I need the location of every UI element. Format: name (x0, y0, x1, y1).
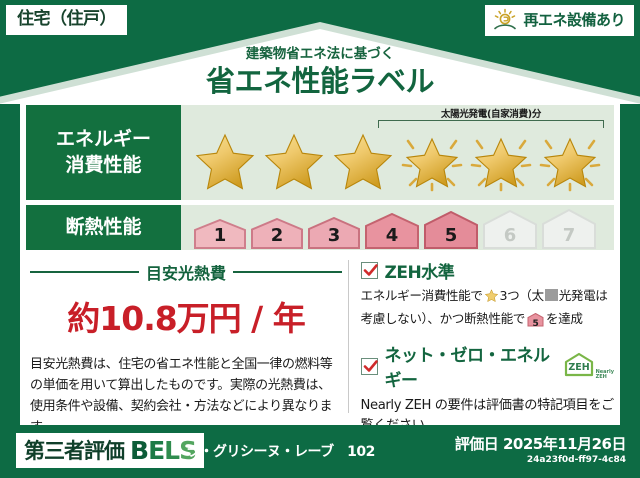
star-5-solar (467, 127, 535, 195)
checkbox-checked-icon (361, 262, 378, 279)
insulation-performance-row: 断熱性能 1 2 3 4 (26, 205, 614, 250)
solar-bracket-label: 太陽光発電(自家消費)分 (376, 106, 606, 120)
insulation-level-4-number: 4 (364, 225, 420, 246)
redacted-text-block (545, 289, 558, 301)
svg-text:ZEH: ZEH (568, 362, 589, 373)
insulation-level-5-number: 5 (423, 225, 479, 246)
energy-cost-amount: 約10.8万円 / 年 (30, 292, 342, 340)
cost-heading-text: 目安光熱費 (146, 260, 226, 284)
star-rating (191, 125, 608, 197)
renewable-badge-label: 再エネ設備あり (523, 11, 625, 30)
insulation-scale-area: 1 2 3 4 5 (181, 205, 614, 250)
evaluation-info: 評価日 2025年11月26日 24a23f0d-ff97-4c84 (455, 433, 626, 465)
energy-cost-column: 目安光熱費 約10.8万円 / 年 目安光熱費は、住宅の省エネ性能と全国一律の燃… (26, 256, 346, 421)
zeh-body-part-d: を達成 (546, 311, 583, 326)
zeh-body-part-b: 3つ（太 (500, 288, 544, 303)
energy-performance-label: エネルギー 消費性能 (26, 105, 181, 200)
zeh-standard-body: エネルギー消費性能で 3つ（太光発電は考慮しない）、かつ断熱性能で 5を達成 (361, 286, 614, 332)
zeh-standard-title: ZEH水準 (385, 258, 455, 283)
footer-bar: 第三者評価 BELS ラ・グリシーヌ・レーブ 102 評価日 2025年11月2… (0, 425, 640, 478)
net-zero-energy-title: ネット・ゼロ・エネルギー (385, 341, 552, 391)
insulation-performance-label: 断熱性能 (26, 205, 181, 250)
star-6-solar (536, 127, 604, 195)
bels-badge: 第三者評価 BELS (16, 433, 204, 468)
star-3 (329, 127, 397, 195)
insulation-level-3: 3 (307, 217, 361, 249)
star-2 (260, 127, 328, 195)
cost-rule-right (233, 271, 342, 273)
insulation-level-5: 5 (423, 211, 479, 249)
inline-insulation-badge-number: 5 (527, 318, 544, 332)
insulation-level-7: 7 (541, 209, 597, 249)
cost-rule-left (30, 271, 139, 273)
star-4-solar (398, 127, 466, 195)
insulation-level-4: 4 (364, 213, 420, 249)
evaluation-date: 評価日 2025年11月26日 (455, 433, 626, 454)
page-title: 省エネ性能ラベル (0, 58, 640, 100)
insulation-level-7-number: 7 (541, 225, 597, 246)
building-name: ラ・グリシーヌ・レーブ 102 (186, 441, 375, 461)
dwelling-type-tag: 住宅（住戸） (6, 5, 127, 35)
energy-cost-heading: 目安光熱費 (30, 260, 342, 284)
column-divider (348, 260, 349, 413)
energy-label-line2: 消費性能 (65, 153, 141, 179)
insulation-level-6-number: 6 (482, 225, 538, 246)
zeh-logo-sub2: ZEH (596, 375, 614, 380)
energy-label-line1: エネルギー (56, 127, 151, 153)
insulation-level-3-number: 3 (307, 225, 361, 246)
insulation-level-2: 2 (250, 218, 304, 249)
sun-icon (492, 8, 518, 32)
zeh-column: ZEH水準 エネルギー消費性能で 3つ（太光発電は考慮しない）、かつ断熱性能で … (357, 256, 614, 421)
evaluation-id: 24a23f0d-ff97-4c84 (455, 455, 626, 465)
insulation-label-text: 断熱性能 (65, 215, 141, 241)
bels-jp-label: 第三者評価 (24, 435, 124, 465)
zeh-house-logo: ZEH Nearly ZEH (563, 352, 614, 381)
zeh-standard-item: ZEH水準 (361, 258, 614, 283)
inline-star-icon (484, 288, 499, 309)
energy-performance-stars-area: 太陽光発電(自家消費)分 (181, 105, 614, 200)
label-body-panel: エネルギー 消費性能 太陽光発電(自家消費)分 (20, 100, 620, 425)
checkbox-checked-icon-2 (361, 358, 378, 375)
renewable-equipment-badge: 再エネ設備あり (485, 5, 634, 36)
insulation-level-2-number: 2 (250, 225, 304, 246)
insulation-level-6: 6 (482, 210, 538, 249)
star-1 (191, 127, 259, 195)
zeh-logo-mark: ZEH (563, 352, 595, 381)
insulation-house-scale: 1 2 3 4 5 (193, 209, 597, 249)
insulation-level-1: 1 (193, 219, 247, 249)
insulation-level-1-number: 1 (193, 225, 247, 246)
inline-insulation-badge: 5 (527, 313, 544, 333)
zeh-logo-sublabel: Nearly ZEH (596, 370, 614, 381)
net-zero-energy-item: ネット・ゼロ・エネルギー ZEH Nearly ZEH (361, 341, 614, 391)
zeh-body-part-a: エネルギー消費性能で (361, 288, 483, 303)
lower-section: 目安光熱費 約10.8万円 / 年 目安光熱費は、住宅の省エネ性能と全国一律の燃… (26, 256, 614, 421)
energy-performance-row: エネルギー 消費性能 太陽光発電(自家消費)分 (26, 105, 614, 200)
